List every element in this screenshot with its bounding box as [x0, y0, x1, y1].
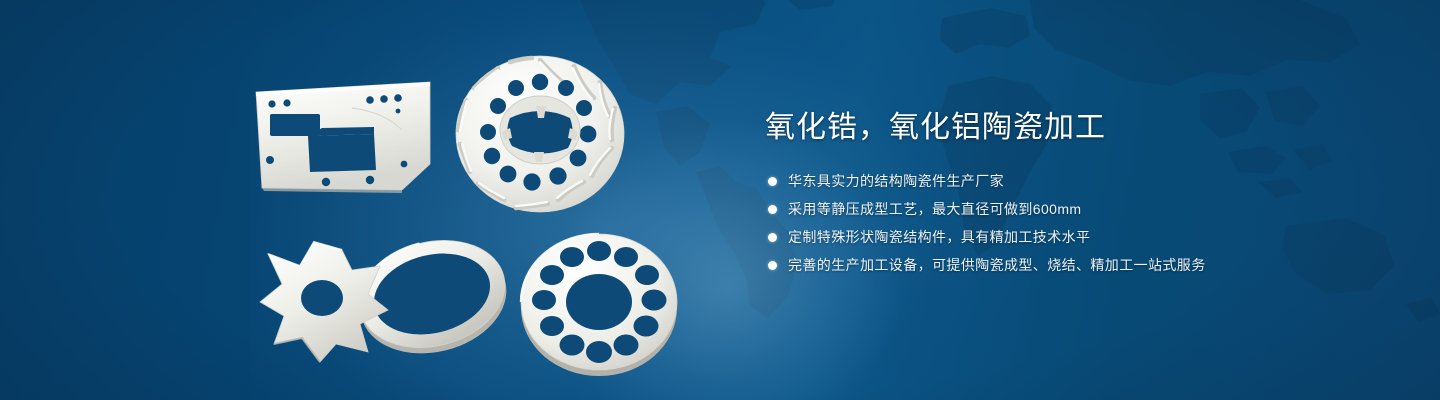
page-title: 氧化锆，氧化铝陶瓷加工	[765, 108, 1305, 148]
feature-list: 华东具实力的结构陶瓷件生产厂家 采用等静压成型工艺，最大直径可做到600mm 定…	[768, 172, 1305, 275]
ceramic-perforated-disc-image	[516, 228, 682, 378]
list-item: 完善的生产加工设备，可提供陶瓷成型、烧结、精加工一站式服务	[768, 256, 1305, 275]
bullet-dot-icon	[768, 177, 777, 186]
list-item-label: 定制特殊形状陶瓷结构件，具有精加工技术水平	[788, 228, 1090, 247]
banner-copy: 氧化锆，氧化铝陶瓷加工 华东具实力的结构陶瓷件生产厂家 采用等静压成型工艺，最大…	[765, 108, 1305, 284]
ceramic-vaned-impeller-image	[452, 48, 628, 216]
list-item: 采用等静压成型工艺，最大直径可做到600mm	[768, 200, 1305, 219]
ceramic-machined-plate-image	[252, 78, 434, 194]
list-item: 定制特殊形状陶瓷结构件，具有精加工技术水平	[768, 228, 1305, 247]
ceramic-cross-vane-image	[256, 232, 402, 368]
hero-banner: 氧化锆，氧化铝陶瓷加工 华东具实力的结构陶瓷件生产厂家 采用等静压成型工艺，最大…	[0, 0, 1440, 400]
list-item-label: 采用等静压成型工艺，最大直径可做到600mm	[788, 200, 1081, 219]
product-photo-group	[0, 0, 720, 400]
list-item-label: 完善的生产加工设备，可提供陶瓷成型、烧结、精加工一站式服务	[788, 256, 1206, 275]
list-item-label: 华东具实力的结构陶瓷件生产厂家	[788, 172, 1004, 191]
bullet-dot-icon	[768, 261, 777, 270]
list-item: 华东具实力的结构陶瓷件生产厂家	[768, 172, 1305, 191]
bullet-dot-icon	[768, 205, 777, 214]
bullet-dot-icon	[768, 233, 777, 242]
